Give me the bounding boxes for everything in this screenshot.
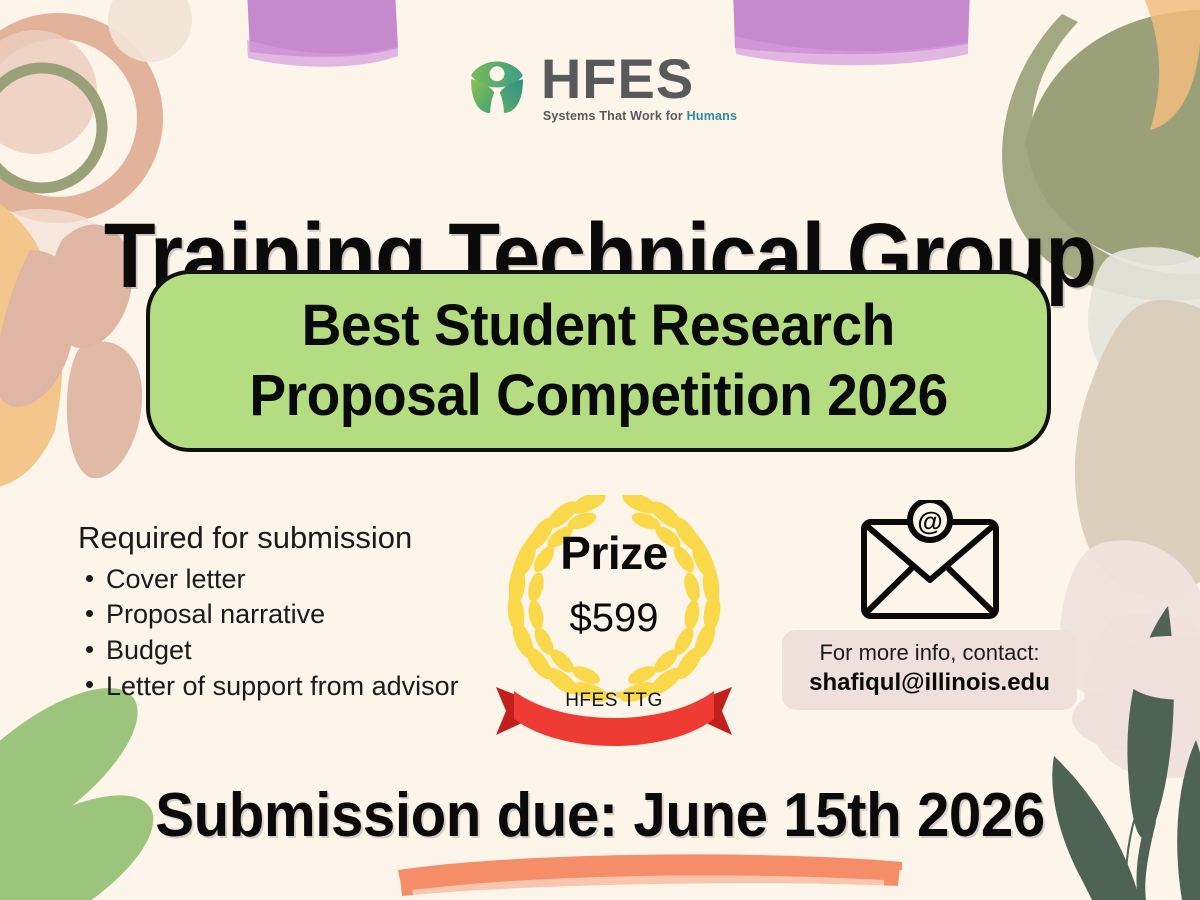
hfes-tagline: Systems That Work for Humans — [543, 109, 737, 123]
hfes-tagline-accent: Humans — [687, 109, 738, 123]
submission-deadline: Submission due: June 15th 2026 — [36, 780, 1164, 851]
list-item-label: Proposal narrative — [106, 599, 325, 629]
svg-text:@: @ — [917, 506, 942, 536]
email-envelope-icon: @ — [858, 500, 1002, 622]
competition-title-banner: Best Student Research Proposal Competiti… — [146, 270, 1051, 452]
prize-badge: Prize $599 HFES TTG — [492, 495, 736, 747]
ribbon-text: HFES TTG — [492, 690, 736, 712]
banner-line-2: Proposal Competition 2026 — [249, 362, 947, 430]
hfes-wordmark: HFES — [541, 52, 737, 107]
requirements-list: Cover letter Proposal narrative Budget L… — [78, 562, 518, 705]
list-item: Budget — [78, 633, 518, 669]
bullet-icon — [86, 681, 93, 688]
list-item: Cover letter — [78, 562, 518, 598]
requirements-section: Required for submission Cover letter Pro… — [78, 520, 518, 704]
contact-label: For more info, contact: — [796, 640, 1063, 666]
hfes-tagline-prefix: Systems That Work for — [543, 109, 687, 123]
banner-line-1: Best Student Research — [302, 292, 895, 360]
list-item-label: Budget — [106, 635, 192, 665]
poster-canvas: HFES Systems That Work for Humans Traini… — [0, 0, 1200, 900]
list-item: Proposal narrative — [78, 597, 518, 633]
contact-email[interactable]: shafiqul@illinois.edu — [796, 668, 1063, 698]
hfes-logo: HFES Systems That Work for Humans — [0, 52, 1200, 123]
prize-label: Prize — [492, 526, 736, 580]
bullet-icon — [86, 646, 93, 653]
list-item: Letter of support from advisor — [78, 669, 518, 705]
hfes-circular-figure-logo — [463, 52, 531, 120]
list-item-label: Cover letter — [106, 564, 246, 594]
bullet-icon — [86, 575, 93, 582]
prize-amount: $599 — [492, 596, 736, 641]
requirements-heading: Required for submission — [78, 520, 518, 556]
contact-info-box: For more info, contact: shafiqul@illinoi… — [782, 630, 1077, 710]
list-item-label: Letter of support from advisor — [106, 671, 459, 701]
bullet-icon — [86, 610, 93, 617]
